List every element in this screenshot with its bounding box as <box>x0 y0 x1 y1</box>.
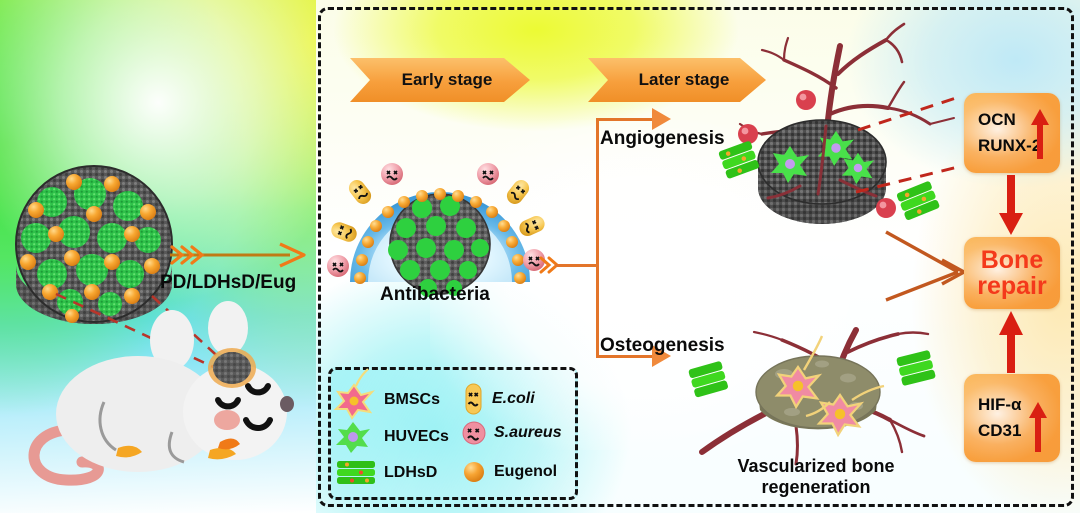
huvec-cell-icon <box>334 420 378 454</box>
arrow-up-icon-osteogenic <box>1030 107 1050 161</box>
flow-line-angiogenesis <box>596 118 658 121</box>
legend-item-ecoli: E.coli <box>462 382 535 416</box>
stage-banner-early-label: Early stage <box>402 70 493 90</box>
branch-label-angiogenesis: Angiogenesis <box>600 128 725 150</box>
legend-label-eugenol: Eugenol <box>494 463 557 481</box>
legend-item-ldhsd: LDHsD <box>334 458 437 488</box>
arrow-up-icon-angiogenic <box>1028 400 1048 454</box>
result-repair-label: repair <box>977 273 1046 299</box>
vascularized-bone-label: Vascularized bone regeneration <box>718 456 914 497</box>
stage-banner-early: Early stage <box>350 58 530 102</box>
marker-box-angiogenic: HIF-α CD31 <box>964 374 1060 462</box>
flow-line-antibacteria <box>555 264 599 267</box>
legend-label-saureus: S.aureus <box>494 424 562 442</box>
arrow-up-icon-to-bone-repair <box>996 309 1026 375</box>
eugenol-sphere-icon <box>462 460 486 484</box>
ecoli-rod-icon <box>462 382 484 416</box>
legend-column-cells: BMSCs HUVECs <box>334 380 458 492</box>
legend-label-huvecs: HUVECs <box>384 428 449 446</box>
legend-item-saureus: S.aureus <box>462 420 562 446</box>
legend-label-ldhsd: LDHsD <box>384 464 437 482</box>
figure-canvas: PD/LDHsD/Eug Early stage Later stage <box>0 0 1080 513</box>
legend-label-bmscs: BMSCs <box>384 391 440 409</box>
flow-line-vertical-split <box>596 118 599 358</box>
bmsc-cell-icon <box>334 382 378 418</box>
marker-box-osteogenic: OCN RUNX-2 <box>964 93 1060 173</box>
scaffold-with-bacteria-icon <box>340 150 540 290</box>
legend-item-eugenol: Eugenol <box>462 460 557 484</box>
reaction-arrow-icon <box>168 244 306 266</box>
legend-column-microbes: E.coli S.aureus <box>462 380 580 492</box>
legend-item-bmscs: BMSCs <box>334 382 440 418</box>
result-box-bone-repair: Bone repair <box>964 237 1060 309</box>
legend-label-ecoli: E.coli <box>492 390 535 408</box>
ldh-nanosheet-icon <box>334 458 378 488</box>
mouse-implant-icon <box>20 300 320 505</box>
result-bone-label: Bone <box>977 247 1046 273</box>
legend-item-huvecs: HUVECs <box>334 420 449 454</box>
stage-banner-later-label: Later stage <box>639 70 730 90</box>
arrow-down-icon-to-bone-repair <box>996 173 1026 237</box>
antibacteria-label: Antibacteria <box>380 284 490 306</box>
arrow-right-icon-angiogenesis <box>652 108 671 130</box>
saureus-sphere-icon <box>462 420 486 446</box>
scaffold-label: PD/LDHsD/Eug <box>160 272 296 294</box>
convergence-arrows <box>852 200 982 360</box>
